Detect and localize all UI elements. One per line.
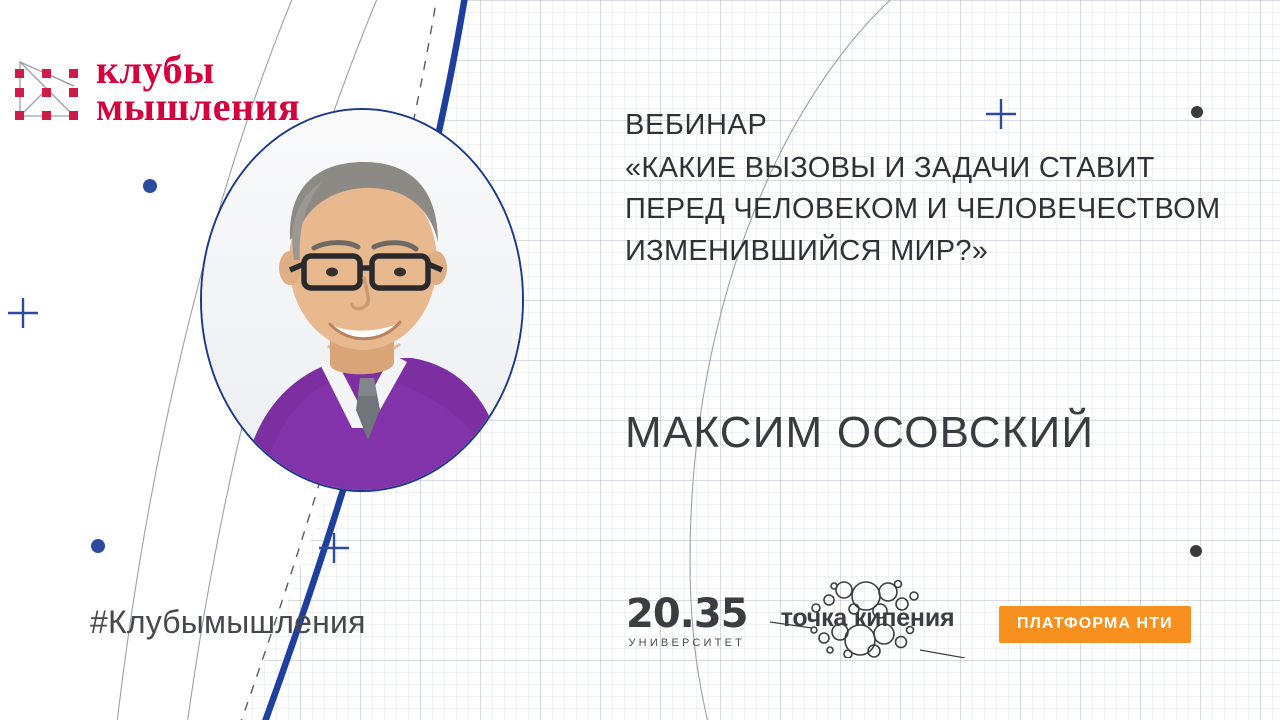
webinar-kicker: ВЕБИНАР — [625, 105, 1255, 146]
dot-blue-lower-left — [91, 539, 105, 553]
webinar-title: «КАКИЕ ВЫЗОВЫ И ЗАДАЧИ СТАВИТ ПЕРЕД ЧЕЛО… — [625, 148, 1255, 272]
slide-canvas: клубы мышления — [0, 0, 1280, 720]
brand-logo[interactable]: клубы мышления — [14, 52, 300, 126]
webinar-text-block: ВЕБИНАР «КАКИЕ ВЫЗОВЫ И ЗАДАЧИ СТАВИТ ПЕ… — [625, 105, 1255, 272]
boiling-point-label: точка кипения — [770, 604, 965, 633]
logo-nti-platform[interactable]: ПЛАТФОРМА НТИ — [999, 606, 1191, 643]
university-number: 20.35 — [626, 594, 748, 634]
logo-university-2035[interactable]: 20.35 УНИВЕРСИТЕТ — [626, 594, 748, 649]
logo-word-line2: мышления — [96, 89, 300, 126]
hashtag: #Клубымышления — [90, 604, 366, 641]
dot-dark-lower-right — [1190, 545, 1202, 557]
university-caption: УНИВЕРСИТЕТ — [626, 637, 748, 649]
cross-left-middle — [8, 298, 38, 328]
logo-wordmark: клубы мышления — [96, 52, 300, 126]
speaker-portrait — [200, 108, 524, 492]
dot-blue-upper-left — [143, 179, 157, 193]
nti-label: ПЛАТФОРМА НТИ — [1017, 615, 1173, 632]
logo-boiling-point[interactable]: точка кипения — [770, 578, 965, 658]
speaker-name: МАКСИМ ОСОВСКИЙ — [625, 408, 1094, 458]
logo-grid-mark-icon — [14, 56, 80, 122]
